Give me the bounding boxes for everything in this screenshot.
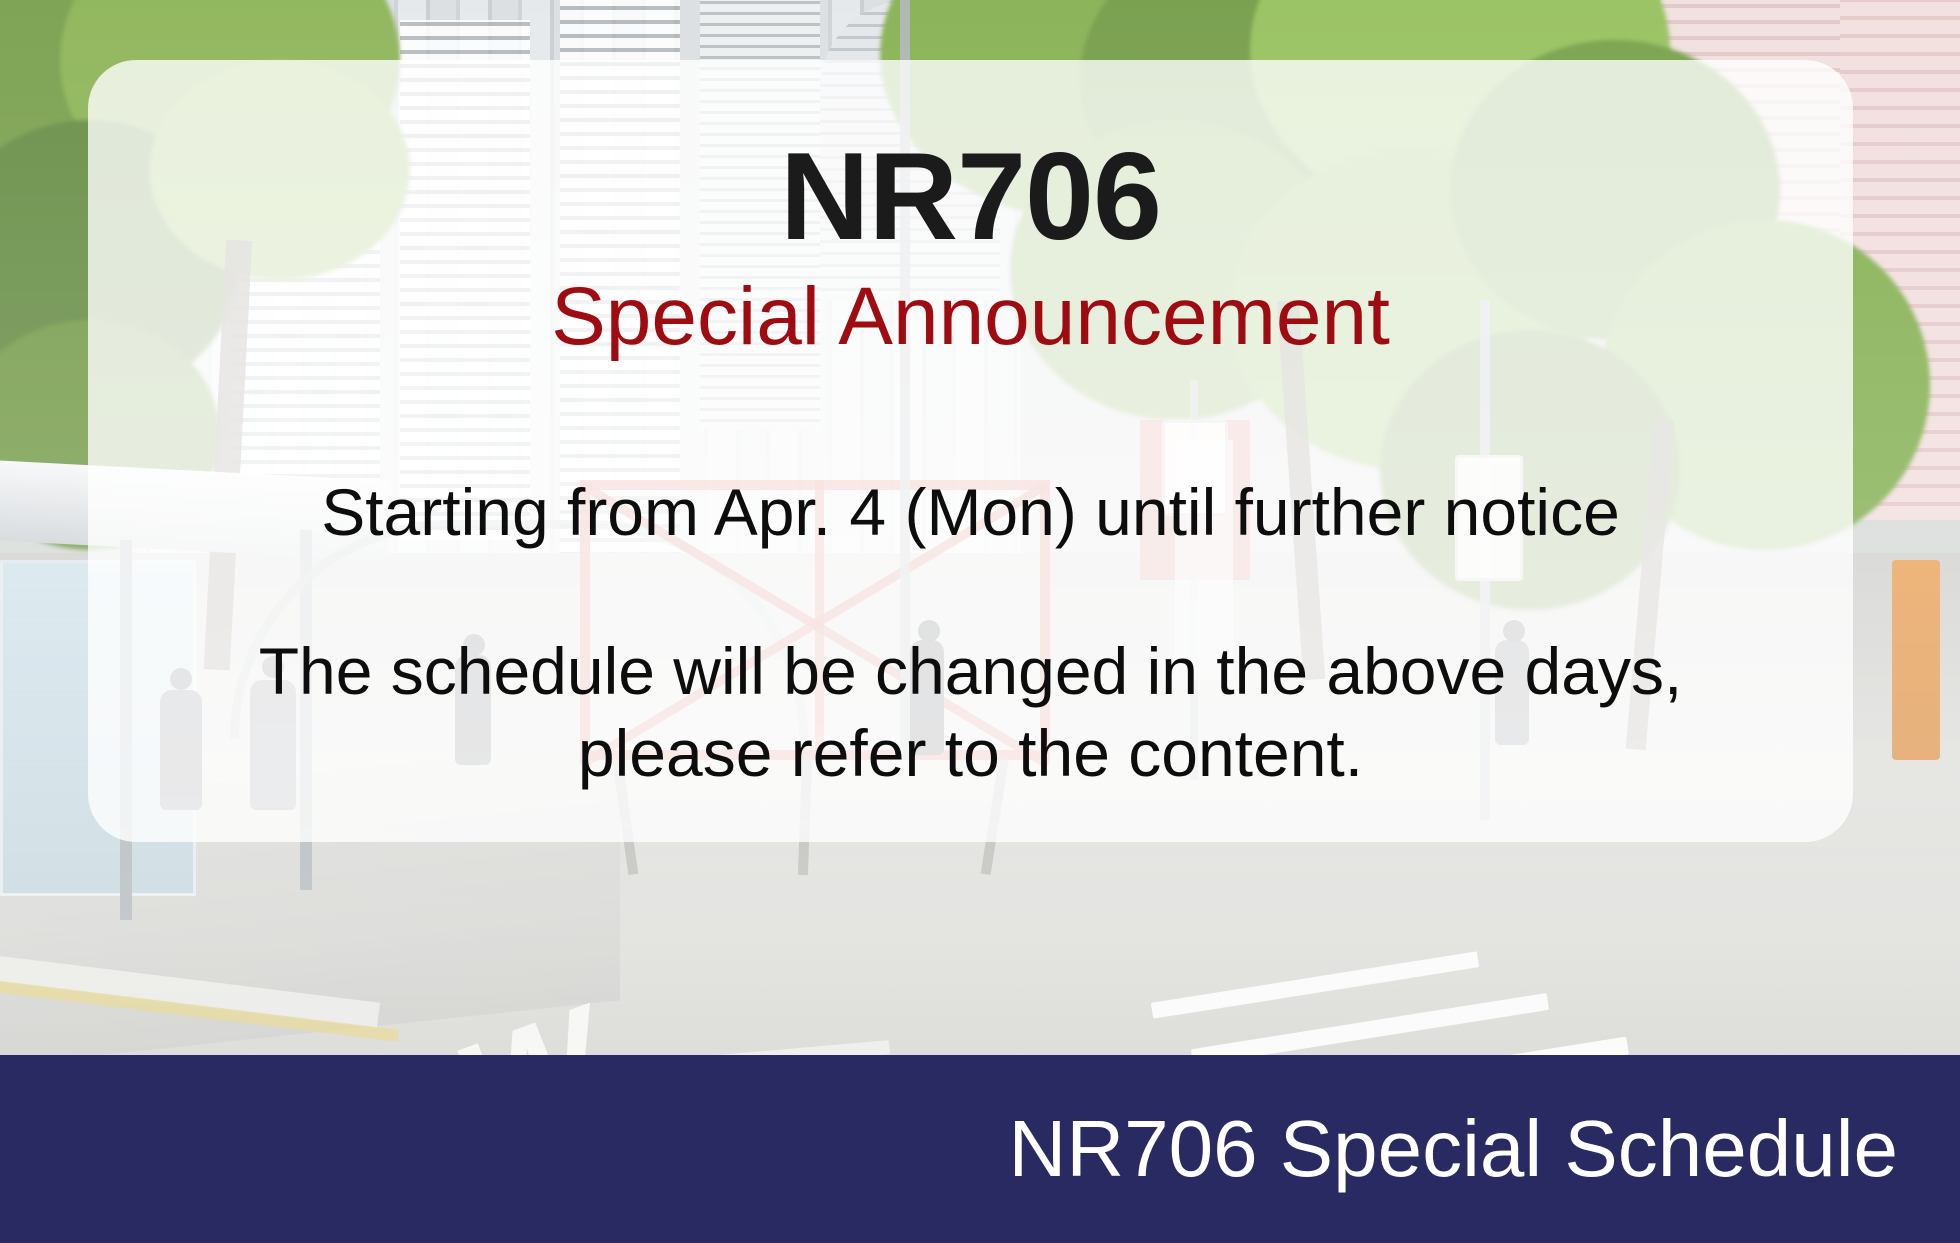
announcement-card: NR706 Special Announcement Starting from…: [88, 60, 1853, 842]
footer-schedule-label: NR706 Special Schedule: [1009, 1109, 1898, 1189]
route-code-title: NR706: [128, 60, 1813, 262]
announcement-poster: SLOW: [0, 0, 1960, 1243]
schedule-notice-line-2: please refer to the content.: [128, 711, 1813, 794]
roadworks-marker: [1892, 560, 1940, 760]
announcement-subtitle: Special Announcement: [128, 262, 1813, 362]
footer-banner: NR706 Special Schedule: [0, 1055, 1960, 1243]
effective-period-text: Starting from Apr. 4 (Mon) until further…: [128, 362, 1813, 553]
schedule-notice-line-1: The schedule will be changed in the abov…: [128, 553, 1813, 712]
